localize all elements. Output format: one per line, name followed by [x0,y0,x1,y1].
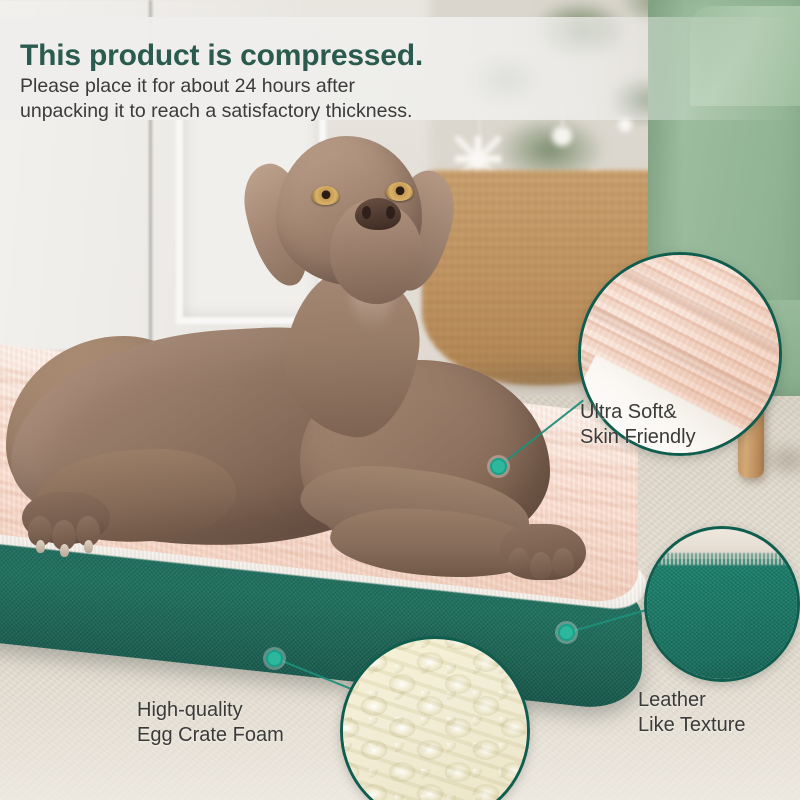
dog-toe [508,548,530,576]
dog-nostril [362,206,371,219]
callout-inset-foam[interactable] [340,636,530,800]
callout-label-leather: Leather Like Texture [638,688,745,738]
callout-label-ultra-soft: Ultra Soft& Skin Friendly [580,400,696,450]
callout-label-egg-crate-foam: High-quality Egg Crate Foam [137,698,284,748]
header-banner: This product is compressed. Please place… [0,17,800,120]
dog-right-eye [386,182,413,201]
callout-marker-ultra-soft[interactable] [490,458,507,475]
leather-fur-edge [644,553,800,565]
banner-body-text: Please place it for about 24 hours after… [20,74,412,124]
callout-marker-leather[interactable] [558,624,575,641]
dog-toe [552,548,574,576]
product-lifestyle-image: Ultra Soft& Skin Friendly Leather Like T… [0,0,800,800]
dog-nostril [386,206,395,219]
dog-toe [530,552,552,580]
dog-claw [36,540,45,553]
dog-left-eye [312,186,339,205]
callout-marker-foam[interactable] [266,650,283,667]
dog-claw [84,540,93,553]
egg-crate-foam-shading [343,639,527,800]
banner-heading: This product is compressed. [20,39,423,73]
dog-claw [60,544,69,557]
callout-inset-leather[interactable] [644,526,800,682]
